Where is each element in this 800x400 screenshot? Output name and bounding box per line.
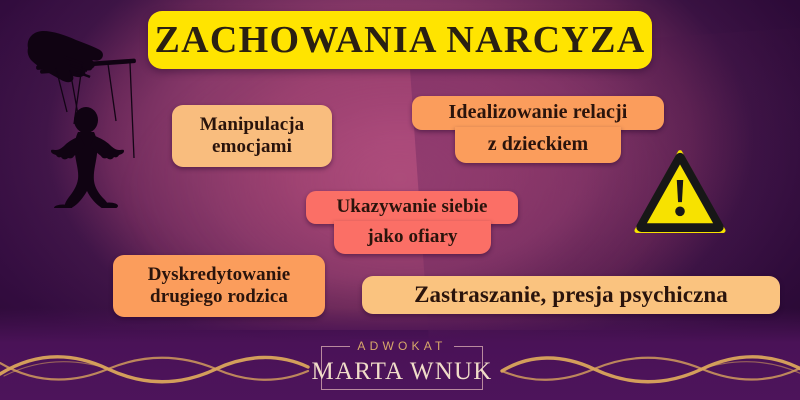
gold-wave-flourish-right [494, 350, 800, 388]
behavior-card-manipulacja: Manipulacja emocjami [172, 105, 332, 167]
behavior-card-ukazywanie-line2: jako ofiary [334, 221, 491, 254]
behavior-line: Ukazywanie siebie [336, 196, 487, 218]
page-title: ZACHOWANIA NARCYZA [148, 11, 652, 69]
behavior-line: jako ofiary [367, 226, 457, 248]
brand-logo: ADWOKAT MARTA WNUK [299, 338, 505, 394]
warning-triangle-exclamation-icon [634, 146, 726, 238]
behavior-card-zastraszanie: Zastraszanie, presja psychiczna [362, 276, 780, 314]
behavior-card-idealizowanie-line2: z dzieckiem [455, 127, 621, 163]
behavior-line: z dzieckiem [488, 133, 589, 156]
logo-name: MARTA WNUK [299, 358, 505, 386]
behavior-line: emocjami [212, 136, 292, 158]
behavior-card-ukazywanie: Ukazywanie siebie [306, 191, 518, 224]
behavior-line: Dyskredytowanie [148, 264, 291, 286]
behavior-card-idealizowanie: Idealizowanie relacji [412, 96, 664, 130]
behavior-line: Manipulacja [200, 114, 305, 136]
behavior-line: drugiego rodzica [150, 286, 288, 308]
behavior-card-dyskredytowanie: Dyskredytowanie drugiego rodzica [113, 255, 325, 317]
logo-kicker-text: ADWOKAT [350, 339, 453, 353]
behavior-line: Idealizowanie relacji [449, 101, 628, 124]
poster-canvas: ZACHOWANIA NARCYZA Manipulacja emocjami … [0, 0, 800, 400]
gold-wave-flourish-left [0, 350, 316, 388]
behavior-line: Zastraszanie, presja psychiczna [414, 282, 728, 309]
logo-kicker: ADWOKAT [299, 339, 505, 353]
page-title-text: ZACHOWANIA NARCYZA [154, 18, 645, 62]
